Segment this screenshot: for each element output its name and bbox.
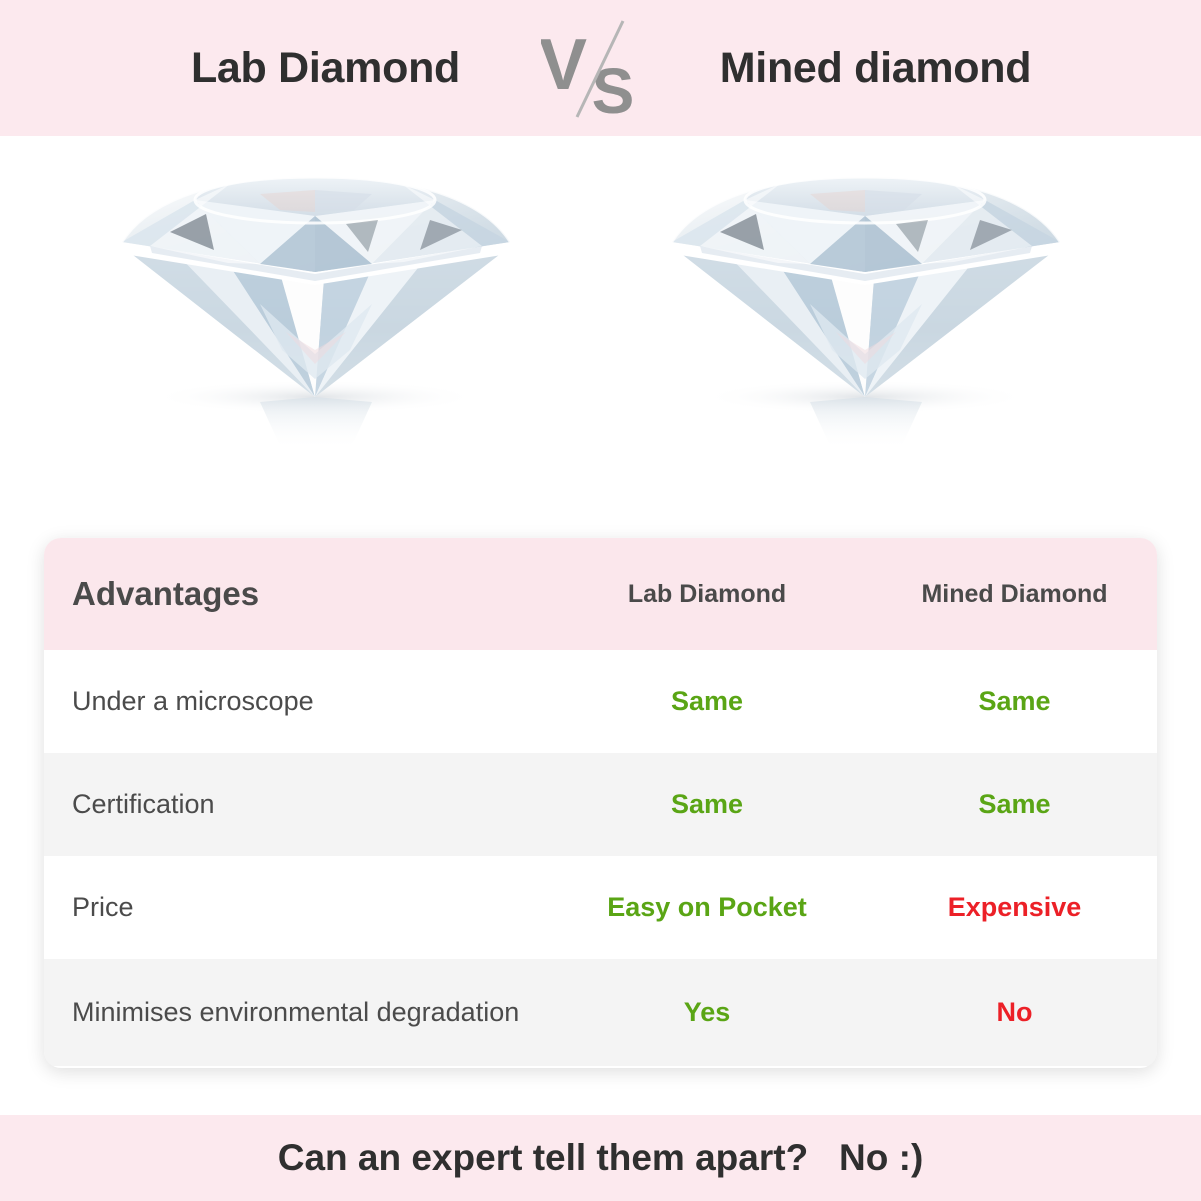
header-banner: Lab Diamond V S Mined diamond xyxy=(0,0,1201,136)
row-feature-label: Under a microscope xyxy=(44,683,542,720)
row-mined-value: No xyxy=(872,997,1157,1028)
table-row: Minimises environmental degradation Yes … xyxy=(44,959,1157,1066)
header-title-lab: Lab Diamond xyxy=(111,44,541,93)
header-advantages: Advantages xyxy=(44,575,542,613)
header-mined-diamond: Mined Diamond xyxy=(872,580,1157,609)
row-lab-value: Same xyxy=(542,789,872,820)
diamond-image-mined xyxy=(660,154,1080,454)
vs-badge: V S xyxy=(541,13,661,123)
footer-question: Can an expert tell them apart? No :) xyxy=(278,1137,924,1179)
diamond-images xyxy=(0,136,1201,530)
vs-icon: V S xyxy=(541,13,661,123)
svg-text:S: S xyxy=(591,55,634,123)
row-mined-value: Same xyxy=(872,686,1157,717)
row-feature-label: Certification xyxy=(44,786,542,823)
comparison-table: Advantages Lab Diamond Mined Diamond Und… xyxy=(44,538,1157,1068)
row-feature-label: Price xyxy=(44,889,542,926)
diamond-image-lab xyxy=(110,154,530,454)
footer-banner: Can an expert tell them apart? No :) xyxy=(0,1115,1201,1201)
table-row: Certification Same Same xyxy=(44,753,1157,856)
header-title-mined: Mined diamond xyxy=(661,44,1091,93)
row-lab-value: Easy on Pocket xyxy=(542,892,872,923)
header-lab-diamond: Lab Diamond xyxy=(542,580,872,609)
table-row: Price Easy on Pocket Expensive xyxy=(44,856,1157,959)
row-lab-value: Yes xyxy=(542,997,872,1028)
table-header-row: Advantages Lab Diamond Mined Diamond xyxy=(44,538,1157,650)
table-row: Under a microscope Same Same xyxy=(44,650,1157,753)
row-mined-value: Expensive xyxy=(872,892,1157,923)
row-lab-value: Same xyxy=(542,686,872,717)
svg-text:V: V xyxy=(541,25,587,105)
row-mined-value: Same xyxy=(872,789,1157,820)
row-feature-label: Minimises environmental degradation xyxy=(44,994,542,1031)
